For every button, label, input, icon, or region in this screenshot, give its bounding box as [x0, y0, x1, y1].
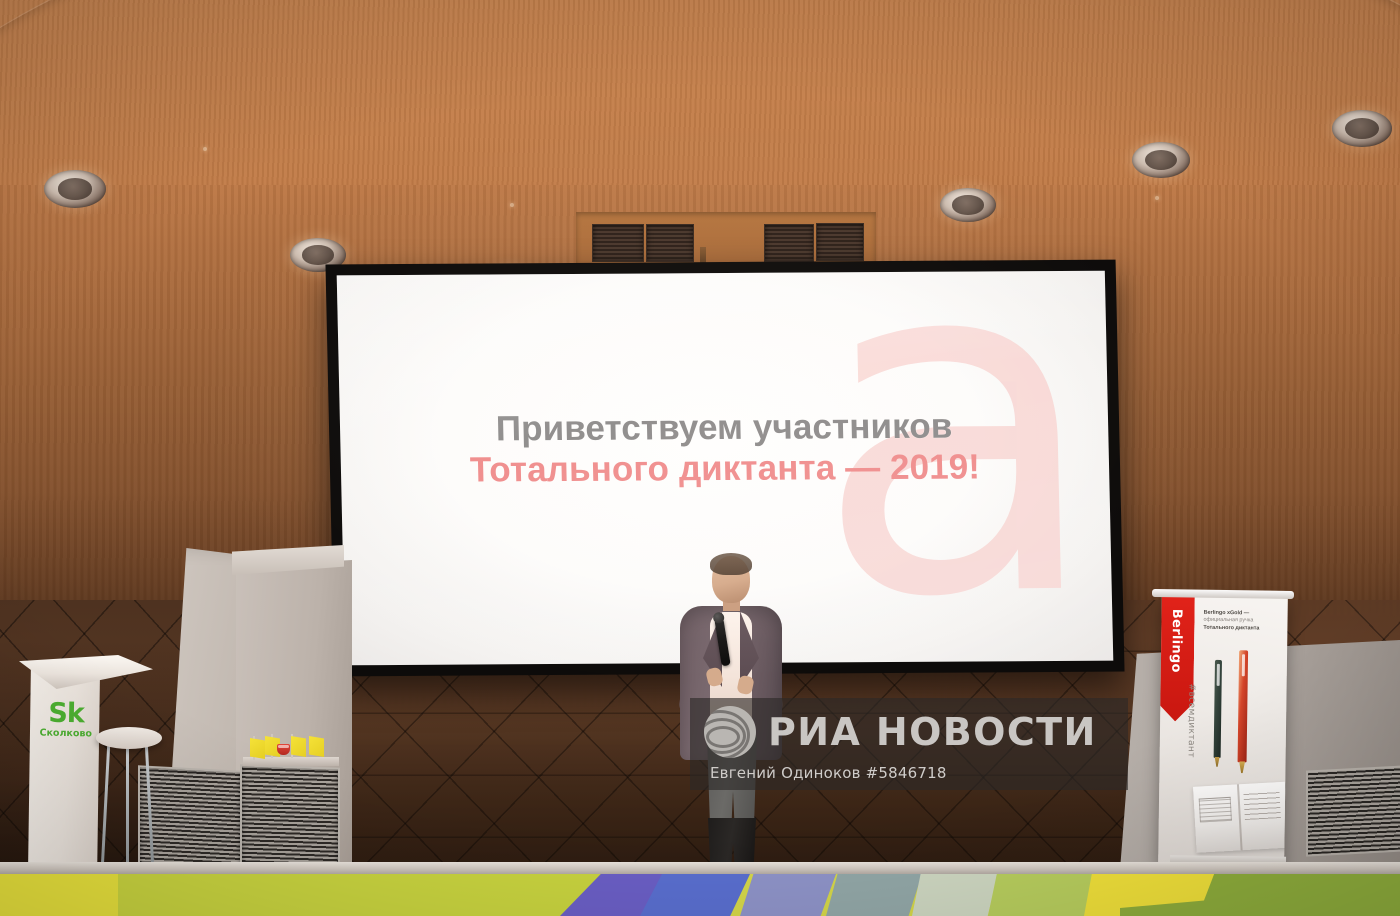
apron-shape: [912, 874, 998, 916]
berlingo-banner: Berlingo Berlingo xGold — официальная ру…: [1158, 595, 1288, 865]
banner-headline-line-3: Тотального диктанта: [1203, 625, 1281, 633]
red-cup-icon: [277, 744, 290, 755]
watermark-agency: РИА НОВОСТИ: [768, 711, 1097, 753]
slide-line-2: Тотального диктанта — 2019!: [375, 446, 1076, 492]
wall-vent-panel: [816, 223, 864, 261]
yellow-flag-icon: [309, 736, 324, 757]
ceiling-downlight: [44, 170, 106, 208]
floor-vent-grille-right: [1306, 765, 1400, 856]
wall-vent-panel: [764, 224, 814, 262]
notebook-lines: [1243, 790, 1281, 820]
ceiling-downlight: [1132, 142, 1190, 178]
yellow-flag-icon: [291, 736, 306, 757]
apron-shape: [118, 874, 628, 916]
watermark-row: РИА НОВОСТИ: [704, 706, 1128, 758]
ceiling-downlight: [940, 188, 996, 222]
banner-headline: Berlingo xGold — официальная ручка Тотал…: [1203, 610, 1281, 633]
berlingo-brand-label: Berlingo: [1168, 595, 1184, 689]
speaker-hair: [710, 553, 752, 575]
skolkovo-logo-mark: Sk: [37, 699, 95, 727]
skolkovo-logo-word: Сколково: [37, 726, 95, 740]
skolkovo-logo: Sk Сколково: [37, 699, 96, 740]
apron-shape: [826, 874, 922, 916]
ceiling-sprinkler-icon: [1155, 196, 1159, 200]
apron-shape: [0, 874, 130, 916]
notebook-illustration: [1193, 782, 1288, 853]
yellow-flag-icon: [250, 738, 265, 759]
floor-vent-grille-left-2: [240, 764, 340, 871]
ceiling-downlight: [1332, 110, 1392, 147]
prop-ledge: [243, 757, 339, 766]
pen-clip: [1241, 654, 1244, 676]
photo-canvas: а Приветствуем участников Тотального дик…: [0, 0, 1400, 916]
wall-vent-panel: [592, 224, 644, 262]
pen-dark-icon: [1214, 660, 1222, 758]
watermark: РИА НОВОСТИ Евгений Одиноков #5846718: [690, 698, 1128, 790]
apron-shape: [740, 874, 836, 916]
wall-vent-panel: [646, 224, 694, 262]
notebook-spine: [1237, 784, 1243, 850]
ria-globe-icon: [704, 706, 756, 758]
bar-stool-seat: [96, 727, 162, 749]
stage-apron: [0, 874, 1400, 916]
slide-line-1: Приветствуем участников: [374, 405, 1075, 451]
notebook-object: [1199, 797, 1232, 823]
pen-red-icon: [1238, 650, 1249, 762]
ceiling-sprinkler-icon: [203, 147, 207, 151]
pen-clip: [1217, 664, 1220, 686]
banner-hashtag: #всемдиктант: [1185, 683, 1196, 773]
apron-shape: [988, 874, 1098, 916]
watermark-credit: Евгений Одиноков #5846718: [710, 764, 1128, 782]
ceiling-sprinkler-icon: [510, 203, 514, 207]
stool-leg: [126, 745, 129, 869]
slide-text-block: Приветствуем участников Тотального дикта…: [340, 405, 1110, 492]
